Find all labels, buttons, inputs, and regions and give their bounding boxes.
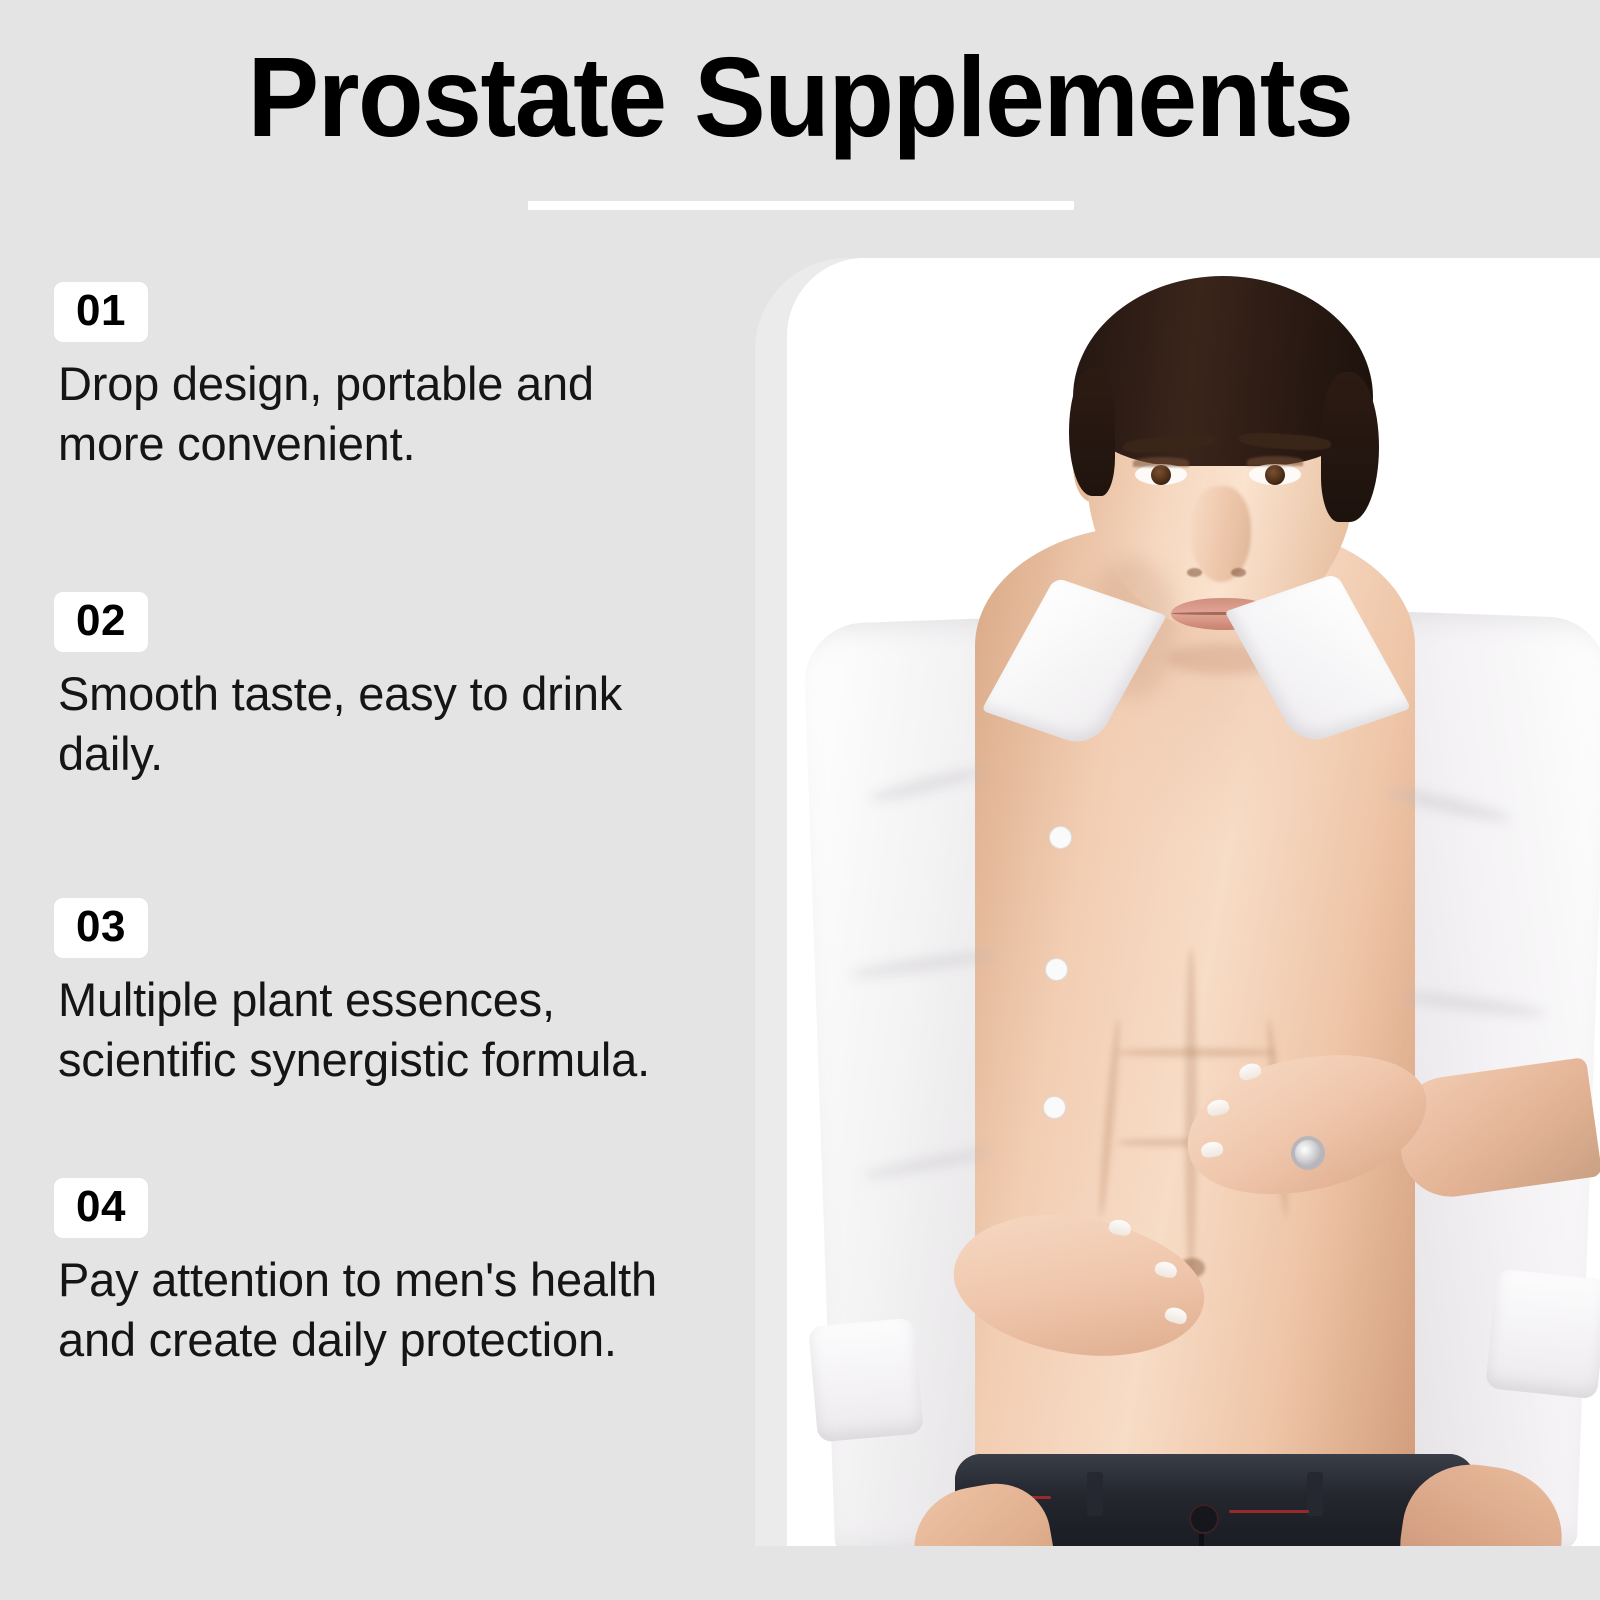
jeans-waistband <box>955 1454 1475 1494</box>
iris-left <box>1151 465 1171 485</box>
jeans-stitch <box>1229 1510 1309 1513</box>
jeans-belt-loop <box>1307 1472 1323 1516</box>
feature-item-02: 02 Smooth taste, easy to drink daily. <box>54 592 734 784</box>
feature-description: Multiple plant essences, scientific syne… <box>58 970 698 1090</box>
feature-description: Smooth taste, easy to drink daily. <box>58 664 698 784</box>
title-divider <box>528 201 1074 210</box>
jeans-button <box>1189 1504 1219 1534</box>
feature-item-01: 01 Drop design, portable and more conven… <box>54 282 734 474</box>
eye-right <box>1249 464 1301 485</box>
feature-number-badge: 04 <box>54 1178 148 1238</box>
product-model-photo <box>787 258 1600 1546</box>
feature-description: Drop design, portable and more convenien… <box>58 354 698 474</box>
photo-composition <box>787 258 1600 1546</box>
eyelid-left <box>1133 457 1189 467</box>
eye-left <box>1135 464 1187 485</box>
shirt-button <box>1049 826 1072 849</box>
page-title: Prostate Supplements <box>40 38 1560 157</box>
abdomen-crease-upper <box>1117 1048 1277 1057</box>
feature-number-badge: 03 <box>54 898 148 958</box>
feature-list: 01 Drop design, portable and more conven… <box>0 282 740 1532</box>
nostril-left <box>1187 568 1202 577</box>
jeans-fly <box>1199 1534 1204 1546</box>
model-hair <box>1073 276 1373 466</box>
feature-number-badge: 01 <box>54 282 148 342</box>
iris-right <box>1265 465 1285 485</box>
abdomen-midline <box>1185 948 1197 1278</box>
nostril-right <box>1231 568 1246 577</box>
shirt-cuff-left <box>808 1318 924 1443</box>
shirt-button <box>1043 1096 1066 1119</box>
feature-item-03: 03 Multiple plant essences, scientific s… <box>54 898 734 1090</box>
header: Prostate Supplements <box>0 0 1600 230</box>
feature-description: Pay attention to men's health and create… <box>58 1250 698 1370</box>
jeans-belt-loop <box>1087 1472 1103 1516</box>
feature-item-04: 04 Pay attention to men's health and cre… <box>54 1178 734 1370</box>
eyelid-right <box>1247 456 1303 466</box>
shirt-button <box>1045 958 1068 981</box>
infographic-page: Prostate Supplements 01 Drop design, por… <box>0 0 1600 1600</box>
shirt-cuff-right <box>1485 1268 1600 1399</box>
feature-number-badge: 02 <box>54 592 148 652</box>
